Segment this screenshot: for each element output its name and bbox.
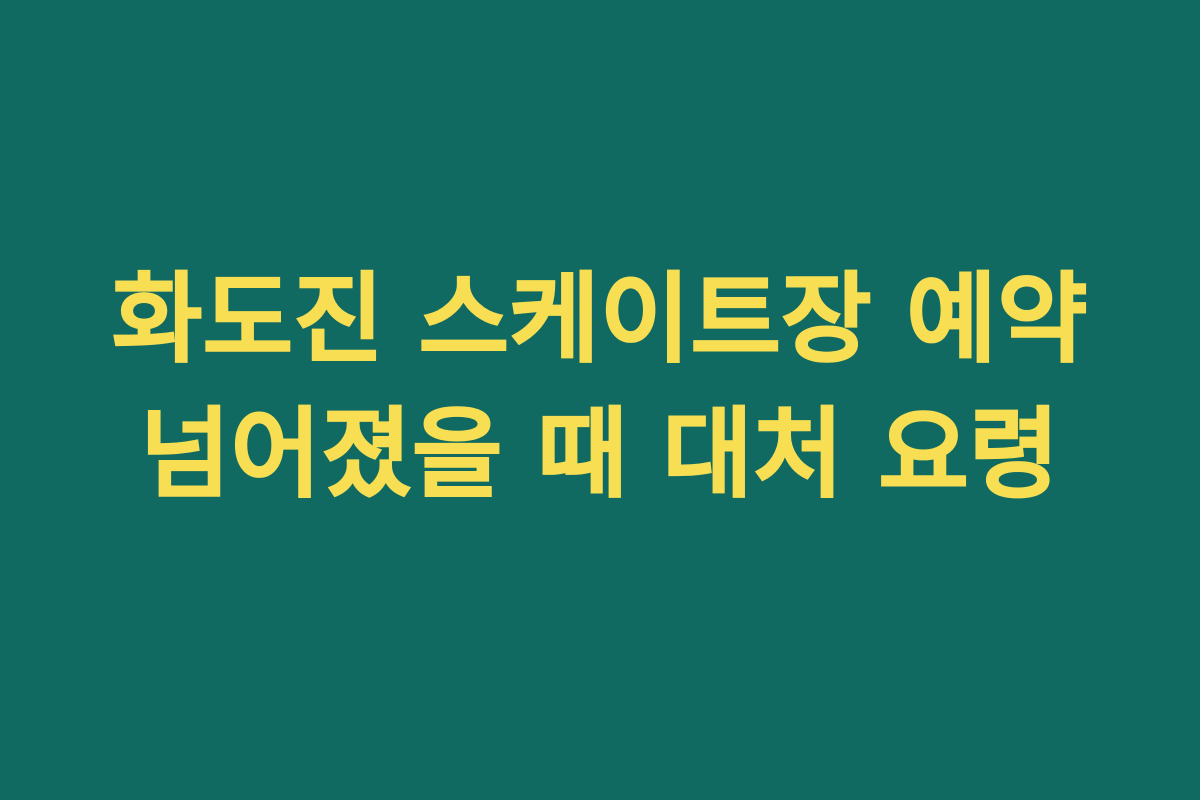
banner-canvas: 화도진 스케이트장 예약 넘어졌을 때 대처 요령: [0, 0, 1200, 800]
title-line-2: 넘어졌을 때 대처 요령: [0, 388, 1200, 523]
title-line-1: 화도진 스케이트장 예약: [0, 253, 1200, 388]
title-block: 화도진 스케이트장 예약 넘어졌을 때 대처 요령: [0, 253, 1200, 523]
